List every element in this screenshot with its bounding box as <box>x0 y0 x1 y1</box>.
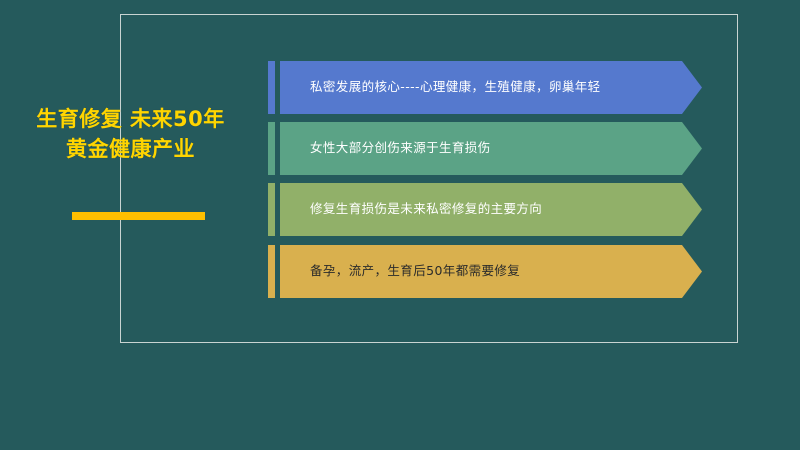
arrow-bar-1-label: 私密发展的核心----心理健康，生殖健康，卵巢年轻 <box>280 79 611 95</box>
arrow-bar-4[interactable]: 备孕，流产，生育后50年都需要修复 <box>268 245 682 298</box>
arrow-bar-1-tab <box>268 61 275 114</box>
arrow-bar-2-label: 女性大部分创伤来源于生育损伤 <box>280 140 501 156</box>
arrow-bar-3[interactable]: 修复生育损伤是未来私密修复的主要方向 <box>268 183 682 236</box>
arrow-bar-2-gap <box>275 122 280 175</box>
arrow-bar-3-body: 修复生育损伤是未来私密修复的主要方向 <box>280 183 682 236</box>
arrow-bar-1-body: 私密发展的核心----心理健康，生殖健康，卵巢年轻 <box>280 61 682 114</box>
arrow-bar-4-label: 备孕，流产，生育后50年都需要修复 <box>280 263 530 279</box>
arrow-bar-2-body: 女性大部分创伤来源于生育损伤 <box>280 122 682 175</box>
arrow-bar-2[interactable]: 女性大部分创伤来源于生育损伤 <box>268 122 682 175</box>
arrow-bar-1-gap <box>275 61 280 114</box>
arrow-bar-4-body: 备孕，流产，生育后50年都需要修复 <box>280 245 682 298</box>
page-title: 生育修复 未来50年黄金健康产业 <box>28 104 233 165</box>
arrow-bar-3-tab <box>268 183 275 236</box>
arrow-bar-2-tab <box>268 122 275 175</box>
arrow-bar-4-tab <box>268 245 275 298</box>
title-underline-rule <box>72 212 205 220</box>
slide-title-block: 生育修复 未来50年黄金健康产业 <box>28 104 233 165</box>
arrow-bar-4-gap <box>275 245 280 298</box>
arrow-bar-3-gap <box>275 183 280 236</box>
slide-canvas: 生育修复 未来50年黄金健康产业 私密发展的核心----心理健康，生殖健康，卵巢… <box>0 0 800 450</box>
arrow-bar-3-label: 修复生育损伤是未来私密修复的主要方向 <box>280 201 552 217</box>
arrow-bar-1[interactable]: 私密发展的核心----心理健康，生殖健康，卵巢年轻 <box>268 61 682 114</box>
